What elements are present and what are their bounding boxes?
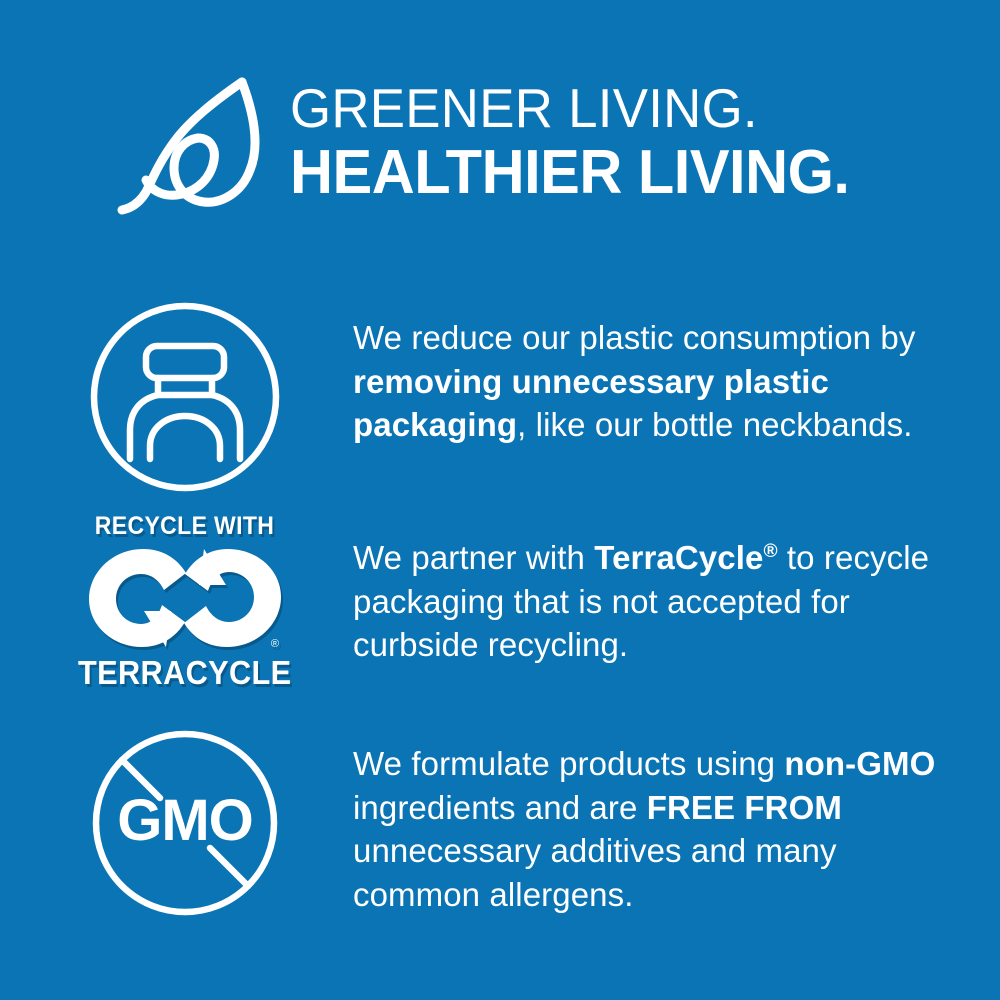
feature-row-terracycle: RECYCLE WITH: [0, 512, 1000, 692]
feature-2-registered-mark: ®: [763, 541, 777, 562]
leaf-icon: [112, 68, 276, 220]
terracycle-logo: RECYCLE WITH: [85, 512, 285, 692]
feature-text-non-gmo: We formulate products using non-GMO ingr…: [353, 728, 973, 916]
feature-text-terracycle: We partner with TerraCycle® to recycle p…: [353, 512, 973, 667]
feature-2-part-0: We partner with: [353, 539, 594, 576]
feature-text-plastic-reduction: We reduce our plastic consumption by rem…: [353, 300, 973, 447]
feature-2-part-1: TerraCycle: [594, 539, 763, 576]
terracycle-top-label: RECYCLE WITH: [95, 512, 274, 541]
feature-row-plastic-reduction: We reduce our plastic consumption by rem…: [0, 300, 1000, 494]
feature-3-part-4: unnecessary additives and many common al…: [353, 832, 837, 913]
feature-3-part-0: We formulate products using: [353, 745, 784, 782]
feature-1-part-0: We reduce our plastic consumption by: [353, 319, 915, 356]
bottle-in-circle-icon: [85, 300, 285, 494]
header-text: GREENER LIVING. HEALTHIER LIVING.: [290, 81, 873, 204]
promo-panel: GREENER LIVING. HEALTHIER LIVING. We red…: [0, 0, 1000, 1000]
feature-3-part-2: ingredients and are: [353, 789, 647, 826]
feature-1-part-2: , like our bottle neckbands.: [517, 406, 912, 443]
svg-text:GMO: GMO: [117, 788, 253, 853]
feature-row-non-gmo: GMO We formulate products using non-GMO …: [0, 728, 1000, 918]
terracycle-bottom-label: TERRACYCLE: [78, 654, 291, 692]
feature-3-part-3: FREE FROM: [647, 789, 842, 826]
no-gmo-icon: GMO: [85, 728, 285, 918]
header: GREENER LIVING. HEALTHIER LIVING.: [0, 62, 1000, 222]
infinity-recycle-arrows-icon: ®: [85, 545, 285, 651]
feature-3-part-1: non-GMO: [784, 745, 935, 782]
terracycle-registered-mark: ®: [271, 638, 279, 650]
terracycle-logo-icon: RECYCLE WITH: [85, 512, 285, 692]
headline-line-2: HEALTHIER LIVING.: [290, 142, 850, 204]
headline-line-1: GREENER LIVING.: [290, 81, 850, 136]
